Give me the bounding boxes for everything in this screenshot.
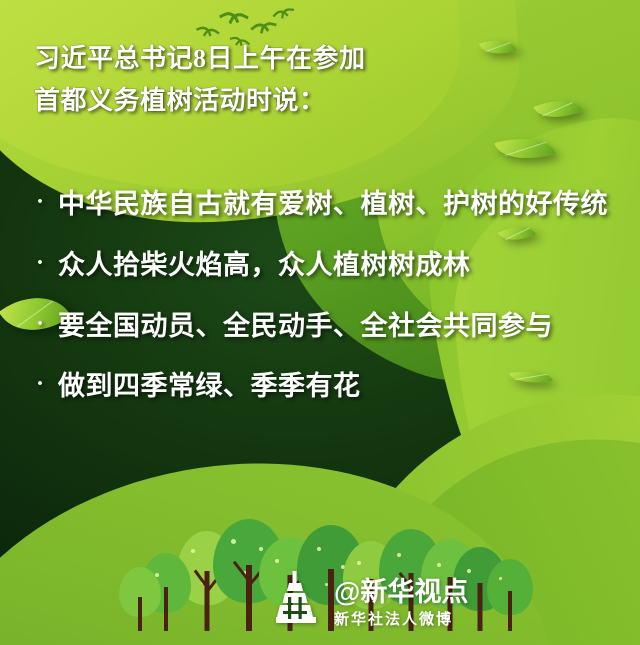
watermark-text: @新华视点 新华社法人微博 <box>334 579 468 629</box>
watermark-subtitle: 新华社法人微博 <box>334 612 468 627</box>
page-title: 习近平总书记8日上午在参加 首都义务植树活动时说： <box>34 38 464 121</box>
list-item-text: 众人拾柴火焰高，众人植树树成林 <box>58 247 612 285</box>
bullet-marker-icon: · <box>36 186 58 220</box>
list-item: · 众人拾柴火焰高，众人植树树成林 <box>36 247 612 285</box>
headline-line-2: 首都义务植树活动时说： <box>34 80 464 122</box>
list-item-text: 要全国动员、全民动手、全社会共同参与 <box>58 308 612 346</box>
list-item: · 做到四季常绿、季季有花 <box>36 368 612 406</box>
list-item-text: 做到四季常绿、季季有花 <box>58 368 612 406</box>
bullet-marker-icon: · <box>36 247 58 281</box>
list-item-text: 中华民族自古就有爱树、植树、护树的好传统 <box>58 186 612 224</box>
bullet-marker-icon: · <box>36 368 58 402</box>
quote-bullet-list: · 中华民族自古就有爱树、植树、护树的好传统 · 众人拾柴火焰高，众人植树树成林… <box>36 186 612 429</box>
bullet-marker-icon: · <box>36 308 58 342</box>
watermark-handle: @新华视点 <box>334 579 468 606</box>
xinhua-tower-logo-icon <box>264 567 326 629</box>
bird-icon <box>252 21 274 34</box>
tree-icon <box>486 559 534 631</box>
bird-icon <box>221 11 245 25</box>
headline-line-1: 习近平总书记8日上午在参加 <box>34 38 464 80</box>
poster-canvas: 习近平总书记8日上午在参加 首都义务植树活动时说： · 中华民族自古就有爱树、植… <box>0 0 640 645</box>
watermark: @新华视点 新华社法人微博 <box>264 567 468 629</box>
tree-icon <box>118 567 162 631</box>
list-item: · 要全国动员、全民动手、全社会共同参与 <box>36 308 612 346</box>
list-item: · 中华民族自古就有爱树、植树、护树的好传统 <box>36 186 612 224</box>
